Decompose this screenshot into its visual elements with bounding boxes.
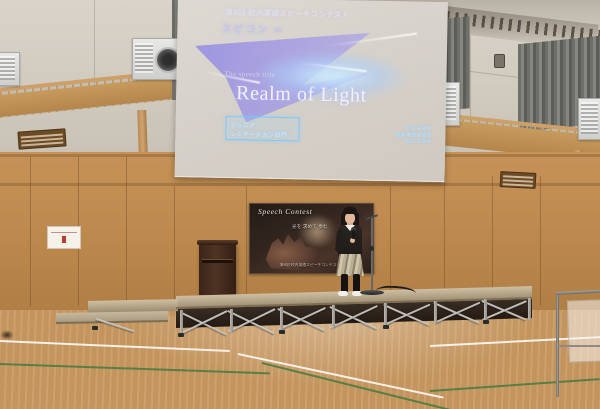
stage-leg	[332, 305, 335, 329]
stage-foot	[279, 330, 285, 334]
slide-category-badge: ジュニア レシテーション部門	[225, 116, 299, 141]
speaker-plaid-skirt	[336, 254, 364, 276]
banner-subtitle: 光を 求めて 歩む	[292, 224, 328, 230]
slide-main-title: Realm of Light	[236, 82, 367, 108]
wall-seam	[246, 186, 247, 306]
stage-leg	[434, 301, 437, 324]
banner-title: Speech Contest	[258, 207, 312, 216]
gym-photo-scene: 第8回 校内英語スピーチコンテスト スピコン ∞ The 8th speech.…	[0, 0, 600, 409]
wall-seam	[126, 156, 127, 306]
air-conditioner-unit-far-left	[0, 52, 20, 86]
air-conditioner-unit-far-right	[578, 98, 600, 140]
speaker-shoe	[338, 291, 348, 296]
handheld-microphone[interactable]	[352, 230, 355, 239]
stage-foot	[483, 320, 489, 324]
air-conditioner-unit-left	[132, 38, 178, 80]
wall-vent-right	[500, 171, 537, 189]
banner-footer: 第8回 校内英語スピーチコンテスト	[280, 263, 340, 268]
stage-step-foot	[92, 326, 98, 330]
slide-credits: 主催 英語科 後援 教育委員会 協力 生徒会	[395, 125, 431, 145]
slide-header-japanese: 第8回 校内英語スピーチコンテスト	[226, 7, 350, 20]
wall-seam	[174, 186, 175, 306]
wooden-lectern	[199, 243, 236, 295]
lectern-top	[197, 240, 238, 245]
ac-louver	[135, 43, 153, 73]
stage-foot	[383, 325, 389, 329]
slide-subtitle-english: The 8th speech...	[223, 34, 276, 43]
presentation-slide: 第8回 校内英語スピーチコンテスト スピコン ∞ The 8th speech.…	[175, 0, 448, 182]
ac-louver	[581, 102, 598, 134]
ac-louver	[0, 56, 15, 80]
floor-shadow	[0, 330, 14, 340]
mic-stand-pole[interactable]	[371, 216, 373, 294]
table-frame-crossbar	[558, 345, 600, 347]
lectern-panel-groove	[202, 259, 233, 263]
mic-stand-clip[interactable]	[364, 214, 371, 221]
wall-seam	[30, 156, 31, 306]
stage-leg	[384, 303, 387, 326]
stage-leg	[180, 310, 183, 334]
stage-foot	[178, 333, 184, 337]
stage-leg	[230, 309, 233, 333]
badge-line-1: ジュニア	[230, 120, 255, 129]
wall-loudspeaker	[494, 54, 505, 68]
stage-leg	[280, 307, 283, 331]
projection-screen: 第8回 校内英語スピーチコンテスト スピコン ∞ The 8th speech.…	[175, 0, 448, 182]
stage-leg	[484, 299, 487, 321]
mic-stand-adjust-knob[interactable]	[369, 246, 374, 251]
folding-table-top	[567, 299, 600, 362]
stage-leg	[528, 298, 531, 320]
wall-seam	[540, 176, 541, 306]
wall-seam	[444, 176, 445, 306]
wall-vent-left	[17, 128, 66, 149]
badge-line-2: レシテーション部門	[230, 129, 287, 139]
balcony-post	[137, 110, 148, 156]
wall-notice-sign	[47, 226, 81, 249]
slide-speech-label: The speech title	[224, 70, 275, 79]
wall-panel-seam	[470, 36, 471, 120]
credit-line: 協力 生徒会	[395, 138, 431, 145]
